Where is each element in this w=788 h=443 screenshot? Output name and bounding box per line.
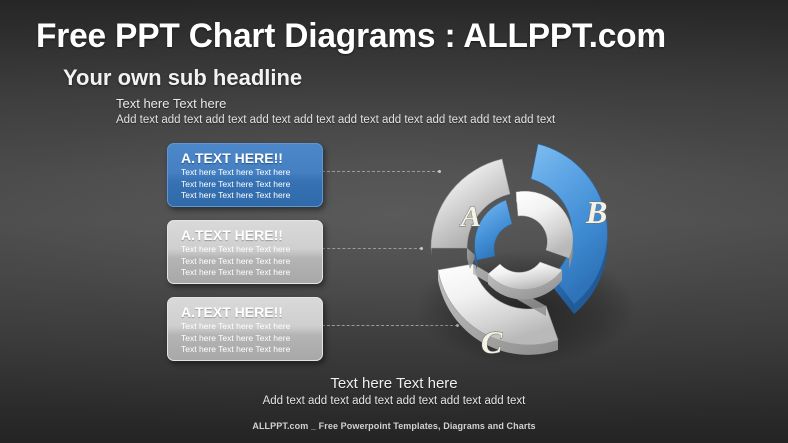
callout-line: Text here Text here Text here <box>168 321 322 333</box>
callout-box-c[interactable]: A.TEXT HERE!! Text here Text here Text h… <box>167 297 323 361</box>
footer-text: ALLPPT.com _ Free Powerpoint Templates, … <box>0 421 788 431</box>
top-lead-text: Text here Text here <box>116 96 226 111</box>
callout-line: Text here Text here Text here <box>168 333 322 345</box>
callout-line: Text here Text here Text here <box>168 344 322 356</box>
bottom-lead-text: Text here Text here <box>0 375 788 392</box>
callout-line: Text here Text here Text here <box>168 190 322 202</box>
callout-box-b[interactable]: A.TEXT HERE!! Text here Text here Text h… <box>167 220 323 284</box>
page-title: Free PPT Chart Diagrams : ALLPPT.com <box>36 17 666 56</box>
segment-label-c: C <box>481 324 503 360</box>
callout-title: A.TEXT HERE!! <box>168 227 322 244</box>
callout-line: Text here Text here Text here <box>168 167 322 179</box>
callout-line: Text here Text here Text here <box>168 244 322 256</box>
callout-line: Text here Text here Text here <box>168 267 322 279</box>
slide-canvas: Free PPT Chart Diagrams : ALLPPT.com You… <box>0 0 788 443</box>
top-body-text: Add text add text add text add text add … <box>116 114 555 126</box>
segment-label-b: B <box>585 194 607 230</box>
callout-title: A.TEXT HERE!! <box>168 150 322 167</box>
page-subtitle: Your own sub headline <box>63 65 302 91</box>
callout-box-a[interactable]: A.TEXT HERE!! Text here Text here Text h… <box>167 143 323 207</box>
callout-title: A.TEXT HERE!! <box>168 304 322 321</box>
segment-label-a: A <box>459 200 481 233</box>
donut-diagram-svg: A B C <box>398 128 654 384</box>
donut-diagram[interactable]: A B C <box>398 128 654 384</box>
callout-line: Text here Text here Text here <box>168 179 322 191</box>
callout-line: Text here Text here Text here <box>168 256 322 268</box>
bottom-body-text: Add text add text add text add text add … <box>0 395 788 407</box>
